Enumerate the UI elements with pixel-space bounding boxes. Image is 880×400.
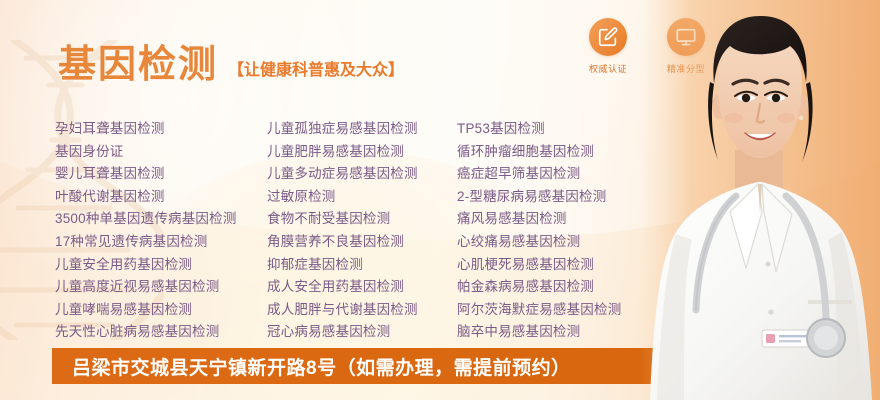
list-item[interactable]: 孕妇耳聋基因检测 [55, 118, 267, 141]
service-column-3: TP53基因检测 循环肿瘤细胞基因检测 癌症超早筛基因检测 2-型糖尿病易感基因… [457, 118, 669, 344]
banner-heading: 基因检测 【让健康科普惠及大众】 [58, 46, 404, 84]
list-item[interactable]: 叶酸代谢基因检测 [55, 186, 267, 209]
list-item[interactable]: 痛风易感基因检测 [457, 208, 669, 231]
list-item[interactable]: 冠心病易感基因检测 [267, 321, 457, 344]
page-title: 基因检测 [58, 46, 218, 84]
list-item[interactable]: 儿童哮喘易感基因检测 [55, 299, 267, 322]
monitor-screen-icon [667, 18, 705, 56]
list-item[interactable]: 心绞痛易感基因检测 [457, 231, 669, 254]
list-item[interactable]: 角膜营养不良基因检测 [267, 231, 457, 254]
service-list: 孕妇耳聋基因检测 基因身份证 婴儿耳聋基因检测 叶酸代谢基因检测 3500种单基… [55, 118, 685, 344]
list-item[interactable]: 儿童多动症易感基因检测 [267, 163, 457, 186]
feature-item-authority[interactable]: 权威认证 [580, 18, 636, 75]
list-item[interactable]: 阿尔茨海默症易感基因检测 [457, 299, 669, 322]
list-item[interactable]: 心肌梗死易感基因检测 [457, 254, 669, 277]
list-item[interactable]: 儿童高度近视易感基因检测 [55, 276, 267, 299]
feature-item-typing[interactable]: 精准分型 [658, 18, 714, 75]
list-item[interactable]: 成人肥胖与代谢基因检测 [267, 299, 457, 322]
feature-item-selfcheck[interactable]: 轻松自检 [736, 18, 792, 75]
page-subtitle: 【让健康科普惠及大众】 [228, 56, 404, 84]
list-item[interactable]: 17种常见遗传病基因检测 [55, 231, 267, 254]
list-item[interactable]: 癌症超早筛基因检测 [457, 163, 669, 186]
list-item[interactable]: 抑郁症基因检测 [267, 254, 457, 277]
report-page-icon [745, 18, 783, 56]
list-item[interactable]: 循环肿瘤细胞基因检测 [457, 141, 669, 164]
list-item[interactable]: 过敏原检测 [267, 186, 457, 209]
list-item[interactable]: 婴儿耳聋基因检测 [55, 163, 267, 186]
list-item[interactable]: 儿童肥胖易感基因检测 [267, 141, 457, 164]
feature-label: 轻松自检 [736, 62, 792, 75]
service-column-1: 孕妇耳聋基因检测 基因身份证 婴儿耳聋基因检测 叶酸代谢基因检测 3500种单基… [55, 118, 267, 344]
list-item[interactable]: 帕金森病易感基因检测 [457, 276, 669, 299]
list-item[interactable]: 基因身份证 [55, 141, 267, 164]
list-item[interactable]: 成人安全用药基因检测 [267, 276, 457, 299]
gene-testing-banner: 基因检测 【让健康科普惠及大众】 权威认证 精准分型 [0, 0, 880, 400]
feature-label: 权威认证 [580, 62, 636, 75]
list-item[interactable]: 2-型糖尿病易感基因检测 [457, 186, 669, 209]
list-item[interactable]: 食物不耐受基因检测 [267, 208, 457, 231]
list-item[interactable]: 儿童孤独症易感基因检测 [267, 118, 457, 141]
address-text: 吕梁市交城县天宁镇新开路8号（如需办理，需提前预约） [72, 353, 571, 380]
list-item[interactable]: 先天性心脏病易感基因检测 [55, 321, 267, 344]
list-item[interactable]: 3500种单基因遗传病基因检测 [55, 208, 267, 231]
service-column-2: 儿童孤独症易感基因检测 儿童肥胖易感基因检测 儿童多动症易感基因检测 过敏原检测… [267, 118, 457, 344]
feature-badges: 权威认证 精准分型 轻松自检 [580, 18, 792, 75]
edit-document-icon [589, 18, 627, 56]
feature-label: 精准分型 [658, 62, 714, 75]
list-item[interactable]: 儿童安全用药基因检测 [55, 254, 267, 277]
list-item[interactable]: 脑卒中易感基因检测 [457, 321, 669, 344]
address-bar: 吕梁市交城县天宁镇新开路8号（如需办理，需提前预约） [52, 348, 792, 384]
list-item[interactable]: TP53基因检测 [457, 118, 669, 141]
